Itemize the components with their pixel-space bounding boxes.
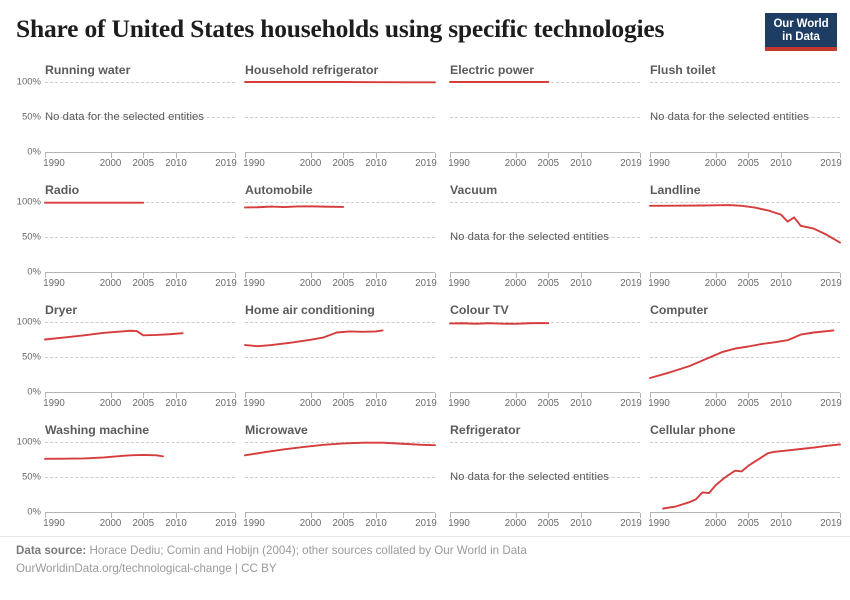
x-axis-tick-label: 1990 — [648, 278, 670, 289]
series-polyline — [245, 443, 435, 456]
x-axis-tick-label: 1990 — [43, 398, 65, 409]
owid-logo-line1: Our World — [765, 18, 837, 31]
series-polyline — [450, 323, 548, 324]
chart-header: Share of United States households using … — [0, 0, 850, 58]
gridline — [450, 202, 640, 203]
series-line — [245, 322, 435, 392]
x-axis-labels: 19902000200520102019 — [650, 518, 840, 532]
y-axis-tick-label: 0% — [27, 387, 41, 398]
facet-electric-power[interactable]: Electric power19902000200520102019 — [450, 58, 646, 178]
facet-title: Running water — [45, 63, 130, 77]
facet-title: Washing machine — [45, 423, 149, 437]
x-axis-line — [245, 272, 435, 277]
x-axis-tick-label: 2010 — [570, 398, 592, 409]
owid-logo[interactable]: Our World in Data — [765, 13, 837, 51]
no-data-message: No data for the selected entities — [450, 231, 609, 243]
x-axis-tick-label: 2005 — [332, 158, 354, 169]
x-axis-tick-label: 2000 — [705, 518, 727, 529]
x-axis-tick-label: 2010 — [770, 518, 792, 529]
x-axis-labels: 19902000200520102019 — [45, 518, 235, 532]
facet-cellular-phone[interactable]: Cellular phone19902000200520102019 — [650, 418, 846, 538]
plot-area: 100%50%0%19902000200520102019 — [45, 322, 235, 392]
x-axis-tick-label: 1990 — [243, 398, 265, 409]
gridline — [450, 442, 640, 443]
x-axis-tick-label: 2010 — [165, 518, 187, 529]
x-axis-tick-label: 2019 — [215, 278, 237, 289]
x-axis-tick-label: 1990 — [43, 158, 65, 169]
facet-computer[interactable]: Computer19902000200520102019 — [650, 298, 846, 418]
x-axis-tick-label: 2000 — [705, 278, 727, 289]
y-axis-tick-label: 0% — [27, 507, 41, 518]
no-data-message: No data for the selected entities — [450, 471, 609, 483]
x-axis-labels: 19902000200520102019 — [450, 158, 640, 172]
x-axis-tick-label: 2000 — [100, 278, 122, 289]
x-axis-line — [450, 272, 640, 277]
x-axis-line — [45, 512, 235, 517]
x-axis-tick-label: 2005 — [737, 518, 759, 529]
x-axis-tick-label: 2000 — [300, 278, 322, 289]
x-axis-labels: 19902000200520102019 — [45, 278, 235, 292]
y-axis-tick-label: 50% — [22, 232, 41, 243]
y-axis-tick-label: 100% — [17, 197, 41, 208]
plot-area: 19902000200520102019No data for the sele… — [650, 82, 840, 152]
x-axis-tick-label: 2019 — [620, 398, 642, 409]
x-axis-tick-label: 2010 — [165, 278, 187, 289]
plot-area: 19902000200520102019 — [650, 202, 840, 272]
data-source-line: Data source: Horace Dediu; Comin and Hob… — [16, 544, 836, 557]
x-axis-tick-label: 2005 — [132, 158, 154, 169]
x-axis-tick-label: 2005 — [737, 398, 759, 409]
series-line — [45, 322, 235, 392]
x-axis-tick-label: 2010 — [365, 158, 387, 169]
x-axis-labels: 19902000200520102019 — [245, 158, 435, 172]
x-axis-tick-label: 2019 — [820, 278, 842, 289]
x-axis-tick-label: 2019 — [620, 158, 642, 169]
y-axis-tick-label: 100% — [17, 317, 41, 328]
x-axis-tick-label: 2019 — [820, 398, 842, 409]
x-axis-tick-label: 2005 — [537, 158, 559, 169]
facet-title: Landline — [650, 183, 701, 197]
x-axis-tick-label: 1990 — [243, 278, 265, 289]
x-axis-tick-label: 2010 — [365, 518, 387, 529]
facet-title: Colour TV — [450, 303, 509, 317]
facet-colour-tv[interactable]: Colour TV19902000200520102019 — [450, 298, 646, 418]
x-axis-tick-label: 1990 — [243, 518, 265, 529]
footer-divider — [0, 536, 850, 537]
x-axis-line — [650, 152, 840, 157]
x-axis-tick-label: 2000 — [300, 158, 322, 169]
gridline — [45, 82, 235, 83]
x-axis-tick-label: 1990 — [648, 518, 670, 529]
x-axis-tick-label: 2005 — [332, 398, 354, 409]
y-axis-tick-label: 100% — [17, 77, 41, 88]
x-axis-tick-label: 2019 — [415, 158, 437, 169]
x-axis-labels: 19902000200520102019 — [245, 278, 435, 292]
series-polyline — [245, 206, 343, 207]
x-axis-labels: 19902000200520102019 — [450, 398, 640, 412]
x-axis-tick-label: 2010 — [570, 158, 592, 169]
facet-grid: Running water100%50%0%199020002005201020… — [0, 58, 850, 538]
series-polyline — [45, 455, 163, 459]
series-line — [245, 202, 435, 272]
x-axis-tick-label: 2000 — [100, 518, 122, 529]
facet-flush-toilet[interactable]: Flush toilet19902000200520102019No data … — [650, 58, 846, 178]
series-polyline — [663, 444, 840, 508]
x-axis-tick-label: 1990 — [648, 398, 670, 409]
series-polyline — [245, 330, 383, 346]
no-data-message: No data for the selected entities — [45, 111, 204, 123]
series-line — [450, 82, 640, 152]
page-title: Share of United States households using … — [16, 14, 756, 44]
facet-title: Microwave — [245, 423, 308, 437]
x-axis-tick-label: 2010 — [570, 518, 592, 529]
x-axis-tick-label: 2019 — [215, 518, 237, 529]
facet-title: Vacuum — [450, 183, 497, 197]
chart-footer: Data source: Horace Dediu; Comin and Hob… — [16, 544, 836, 575]
facet-title: Computer — [650, 303, 708, 317]
x-axis-line — [450, 152, 640, 157]
series-line — [245, 442, 435, 512]
series-line — [450, 322, 640, 392]
x-axis-line — [245, 152, 435, 157]
x-axis-tick-label: 2000 — [505, 158, 527, 169]
license-line: OurWorldinData.org/technological-change … — [16, 562, 836, 575]
x-axis-labels: 19902000200520102019 — [650, 158, 840, 172]
x-axis-tick-label: 2010 — [365, 278, 387, 289]
plot-area: 19902000200520102019 — [245, 322, 435, 392]
x-axis-tick-label: 1990 — [43, 518, 65, 529]
x-axis-labels: 19902000200520102019 — [450, 278, 640, 292]
x-axis-tick-label: 2010 — [570, 278, 592, 289]
facet-title: Flush toilet — [650, 63, 716, 77]
x-axis-tick-label: 2005 — [132, 398, 154, 409]
x-axis-tick-label: 1990 — [448, 278, 470, 289]
x-axis-tick-label: 2005 — [132, 278, 154, 289]
data-source-label: Data source: — [16, 544, 86, 557]
x-axis-tick-label: 2010 — [165, 398, 187, 409]
series-polyline — [45, 331, 183, 340]
x-axis-line — [245, 512, 435, 517]
plot-area: 19902000200520102019 — [650, 442, 840, 512]
x-axis-tick-label: 1990 — [448, 158, 470, 169]
series-line — [45, 442, 235, 512]
x-axis-tick-label: 2000 — [505, 278, 527, 289]
x-axis-tick-label: 1990 — [43, 278, 65, 289]
x-axis-line — [450, 392, 640, 397]
x-axis-labels: 19902000200520102019 — [450, 518, 640, 532]
facet-washing-machine[interactable]: Washing machine100%50%0%1990200020052010… — [45, 418, 241, 538]
x-axis-tick-label: 2000 — [705, 158, 727, 169]
x-axis-tick-label: 2000 — [505, 398, 527, 409]
plot-area: 100%50%0%19902000200520102019 — [45, 202, 235, 272]
x-axis-tick-label: 2010 — [165, 158, 187, 169]
facet-refrigerator[interactable]: Refrigerator19902000200520102019No data … — [450, 418, 646, 538]
x-axis-line — [245, 392, 435, 397]
plot-area: 19902000200520102019 — [650, 322, 840, 392]
x-axis-tick-label: 2005 — [537, 398, 559, 409]
series-polyline — [650, 205, 840, 243]
y-axis-tick-label: 0% — [27, 147, 41, 158]
facet-automobile[interactable]: Automobile19902000200520102019 — [245, 178, 441, 298]
x-axis-tick-label: 2005 — [537, 518, 559, 529]
facet-vacuum[interactable]: Vacuum19902000200520102019No data for th… — [450, 178, 646, 298]
y-axis-tick-label: 100% — [17, 437, 41, 448]
x-axis-tick-label: 2019 — [415, 398, 437, 409]
x-axis-tick-label: 2000 — [300, 518, 322, 529]
plot-area: 100%50%0%19902000200520102019 — [45, 442, 235, 512]
y-axis-tick-label: 50% — [22, 112, 41, 123]
facet-title: Dryer — [45, 303, 77, 317]
x-axis-line — [650, 272, 840, 277]
data-source-text: Horace Dediu; Comin and Hobijn (2004); o… — [89, 544, 526, 557]
facet-dryer[interactable]: Dryer100%50%0%19902000200520102019 — [45, 298, 241, 418]
facet-running-water[interactable]: Running water100%50%0%199020002005201020… — [45, 58, 241, 178]
x-axis-tick-label: 2000 — [100, 398, 122, 409]
gridline — [650, 82, 840, 83]
x-axis-tick-label: 1990 — [648, 158, 670, 169]
x-axis-tick-label: 2019 — [620, 278, 642, 289]
x-axis-tick-label: 2019 — [620, 518, 642, 529]
series-line — [245, 82, 435, 152]
x-axis-labels: 19902000200520102019 — [650, 398, 840, 412]
x-axis-tick-label: 2019 — [820, 158, 842, 169]
series-line — [650, 202, 840, 272]
series-line — [650, 442, 840, 512]
x-axis-tick-label: 1990 — [448, 398, 470, 409]
facet-title: Home air conditioning — [245, 303, 375, 317]
owid-chart-root: Share of United States households using … — [0, 0, 850, 600]
x-axis-labels: 19902000200520102019 — [245, 518, 435, 532]
x-axis-labels: 19902000200520102019 — [245, 398, 435, 412]
plot-area: 19902000200520102019No data for the sele… — [450, 202, 640, 272]
x-axis-line — [650, 512, 840, 517]
x-axis-labels: 19902000200520102019 — [650, 278, 840, 292]
x-axis-tick-label: 2019 — [215, 398, 237, 409]
x-axis-tick-label: 2005 — [132, 518, 154, 529]
y-axis-tick-label: 50% — [22, 472, 41, 483]
facet-title: Refrigerator — [450, 423, 520, 437]
plot-area: 19902000200520102019 — [450, 322, 640, 392]
plot-area: 19902000200520102019 — [245, 82, 435, 152]
x-axis-labels: 19902000200520102019 — [45, 398, 235, 412]
facet-radio[interactable]: Radio100%50%0%19902000200520102019 — [45, 178, 241, 298]
x-axis-tick-label: 2019 — [820, 518, 842, 529]
x-axis-tick-label: 2005 — [332, 518, 354, 529]
x-axis-line — [45, 272, 235, 277]
plot-area: 19902000200520102019No data for the sele… — [450, 442, 640, 512]
plot-area: 19902000200520102019 — [450, 82, 640, 152]
x-axis-tick-label: 2010 — [770, 158, 792, 169]
x-axis-line — [45, 392, 235, 397]
facet-title: Electric power — [450, 63, 534, 77]
x-axis-tick-label: 2019 — [415, 518, 437, 529]
facet-microwave[interactable]: Microwave19902000200520102019 — [245, 418, 441, 538]
facet-landline[interactable]: Landline19902000200520102019 — [650, 178, 846, 298]
facet-title: Cellular phone — [650, 423, 735, 437]
x-axis-tick-label: 2000 — [705, 398, 727, 409]
y-axis-tick-label: 50% — [22, 352, 41, 363]
x-axis-line — [650, 392, 840, 397]
plot-area: 100%50%0%19902000200520102019No data for… — [45, 82, 235, 152]
plot-area: 19902000200520102019 — [245, 442, 435, 512]
plot-area: 19902000200520102019 — [245, 202, 435, 272]
x-axis-tick-label: 1990 — [243, 158, 265, 169]
x-axis-tick-label: 1990 — [448, 518, 470, 529]
owid-logo-line2: in Data — [765, 31, 837, 44]
x-axis-labels: 19902000200520102019 — [45, 158, 235, 172]
x-axis-tick-label: 2005 — [332, 278, 354, 289]
x-axis-tick-label: 2010 — [770, 278, 792, 289]
series-line — [650, 322, 840, 392]
x-axis-tick-label: 2000 — [300, 398, 322, 409]
x-axis-tick-label: 2005 — [537, 278, 559, 289]
series-line — [45, 202, 235, 272]
x-axis-tick-label: 2010 — [770, 398, 792, 409]
x-axis-tick-label: 2005 — [737, 158, 759, 169]
series-polyline — [650, 330, 833, 378]
facet-title: Automobile — [245, 183, 313, 197]
facet-title: Household refrigerator — [245, 63, 378, 77]
no-data-message: No data for the selected entities — [650, 111, 809, 123]
x-axis-tick-label: 2010 — [365, 398, 387, 409]
x-axis-tick-label: 2005 — [737, 278, 759, 289]
x-axis-line — [45, 152, 235, 157]
x-axis-tick-label: 2019 — [215, 158, 237, 169]
facet-title: Radio — [45, 183, 79, 197]
facet-home-air-conditioning[interactable]: Home air conditioning1990200020052010201… — [245, 298, 441, 418]
x-axis-tick-label: 2000 — [100, 158, 122, 169]
x-axis-tick-label: 2019 — [415, 278, 437, 289]
facet-household-refrigerator[interactable]: Household refrigerator199020002005201020… — [245, 58, 441, 178]
x-axis-line — [450, 512, 640, 517]
y-axis-tick-label: 0% — [27, 267, 41, 278]
x-axis-tick-label: 2000 — [505, 518, 527, 529]
